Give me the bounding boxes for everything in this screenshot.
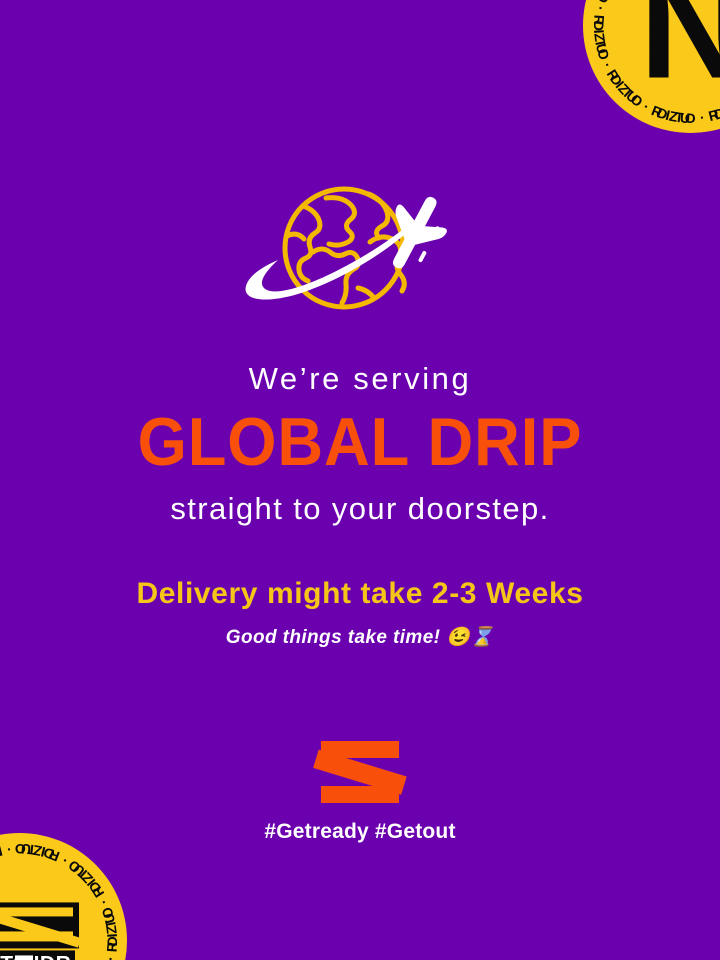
- post-headline: straight to your doorstep.: [0, 490, 720, 529]
- badge-ring-char: ·: [102, 954, 119, 960]
- pre-headline: We’re serving: [0, 360, 720, 399]
- badge-ring-char: R: [0, 842, 4, 860]
- footer-block: #Getready #Getout: [0, 741, 720, 844]
- badge-ring-char: ·: [698, 109, 705, 126]
- copy-block: We’re serving GLOBAL DRIP straight to yo…: [0, 360, 720, 649]
- badge-center-letter: N: [639, 0, 720, 87]
- hashtags: #Getready #Getout: [264, 820, 455, 844]
- badge-ring-char: R: [590, 14, 607, 26]
- badge-wordmark-left: OUT: [0, 952, 14, 960]
- globe-airplane-icon: [240, 176, 480, 336]
- badge-z-mark: [0, 902, 79, 948]
- promo-poster: OUTZIDR·OUTZIDR·OUTZIDR·OUTZIDR·OUTZIDR·…: [0, 0, 720, 960]
- headline: GLOBAL DRIP: [25, 408, 695, 476]
- badge-wordmark-z-icon: [15, 955, 33, 960]
- badge-ring-char: ·: [592, 4, 609, 12]
- badge-core-bottom-left: OUT IDR: [0, 902, 84, 960]
- sub-note: Good things take time! 😉⌛: [0, 625, 720, 649]
- outzidr-z-logo-icon: [321, 741, 399, 803]
- badge-core-top-right: N: [616, 0, 720, 87]
- badge-wordmark: OUT IDR: [0, 950, 75, 960]
- badge-ring-char: R: [103, 940, 120, 952]
- badge-ring-char: O: [594, 0, 613, 5]
- outzidr-badge-top-right: OUTZIDR·OUTZIDR·OUTZIDR·OUTZIDR·OUTZIDR·…: [583, 0, 720, 133]
- outzidr-badge-bottom-left: OUTZIDR·OUTZIDR·OUTZIDR·OUTZIDR·OUTZIDR·…: [0, 833, 127, 960]
- delivery-note: Delivery might take 2-3 Weeks: [0, 577, 720, 611]
- badge-wordmark-right: IDR: [34, 952, 72, 960]
- hero-illustration: [0, 176, 720, 336]
